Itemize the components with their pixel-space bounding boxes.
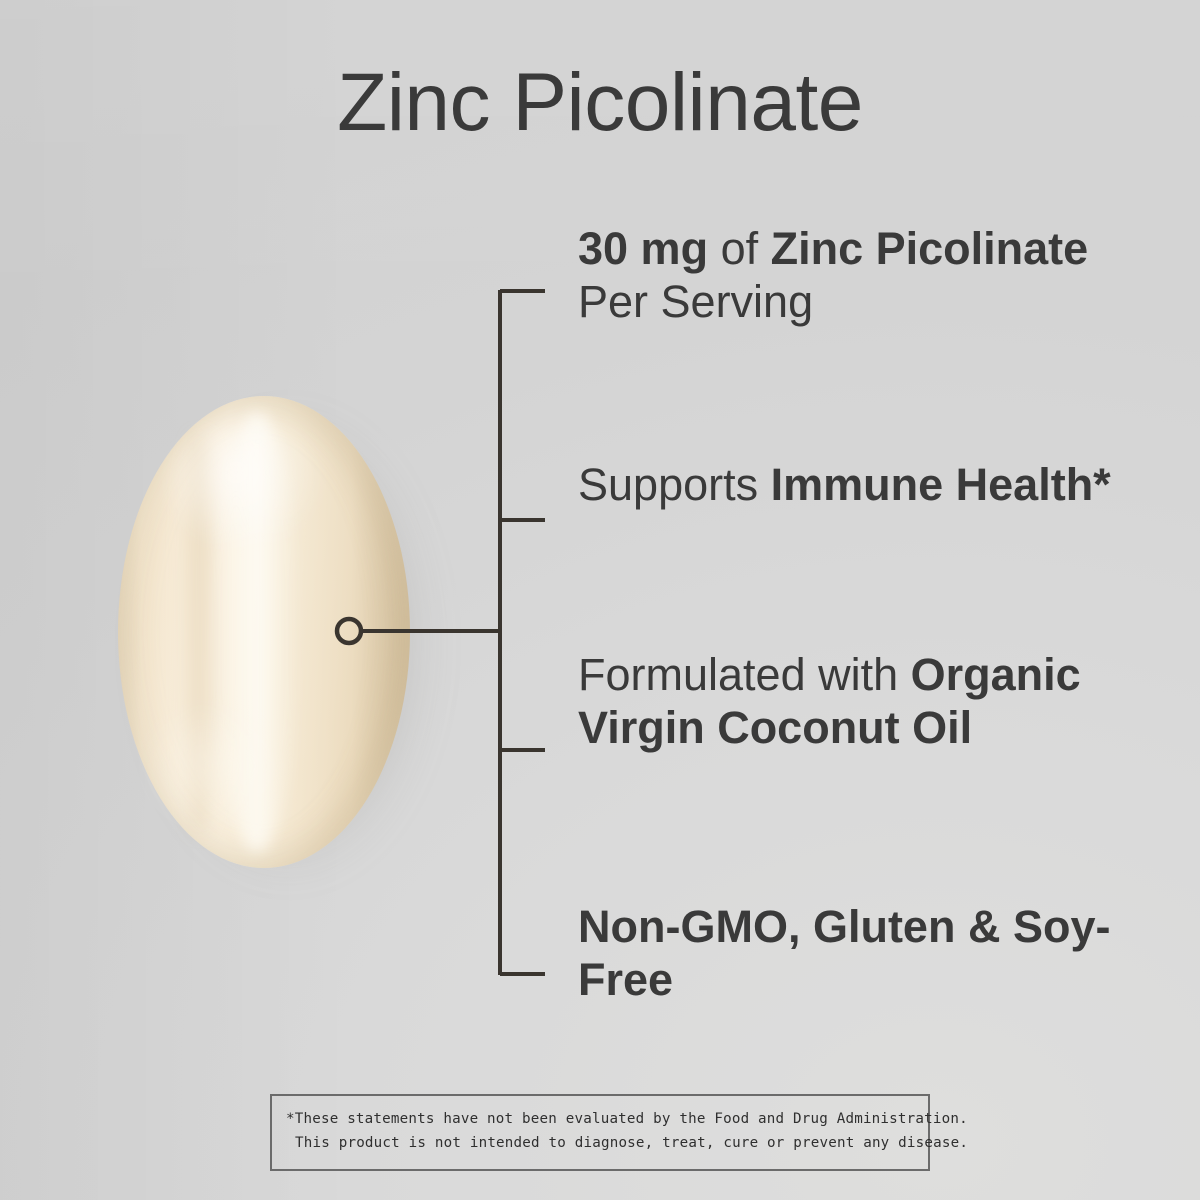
fda-disclaimer: *These statements have not been evaluate…: [270, 1094, 930, 1171]
page-title: Zinc Picolinate: [0, 62, 1200, 144]
softgel-capsule: [118, 396, 414, 870]
capsule-bottom-gloss: [144, 706, 274, 826]
list-item: 30 mg of Zinc Picolinate Per Serving: [578, 222, 1168, 328]
capsule-body: [118, 396, 410, 868]
bullet-dosage-text: 30 mg of Zinc Picolinate Per Serving: [578, 223, 1088, 327]
list-item: Formulated with Organic Virgin Coconut O…: [578, 648, 1168, 754]
bullet-coconut-oil-text: Formulated with Organic Virgin Coconut O…: [578, 649, 1081, 753]
disclaimer-line-1: *These statements have not been evaluate…: [286, 1107, 914, 1131]
infographic-canvas: Zinc Picolinate 30 mg of Zinc Picolinate: [0, 0, 1200, 1200]
list-item: Non-GMO, Gluten & Soy-Free: [578, 900, 1168, 1006]
list-item: Supports Immune Health*: [578, 458, 1168, 511]
bullet-free-from-text: Non-GMO, Gluten & Soy-Free: [578, 901, 1110, 1005]
capsule-top-gloss: [170, 422, 320, 548]
disclaimer-line-2: This product is not intended to diagnose…: [286, 1131, 914, 1155]
bullet-immune-text: Supports Immune Health*: [578, 459, 1111, 510]
